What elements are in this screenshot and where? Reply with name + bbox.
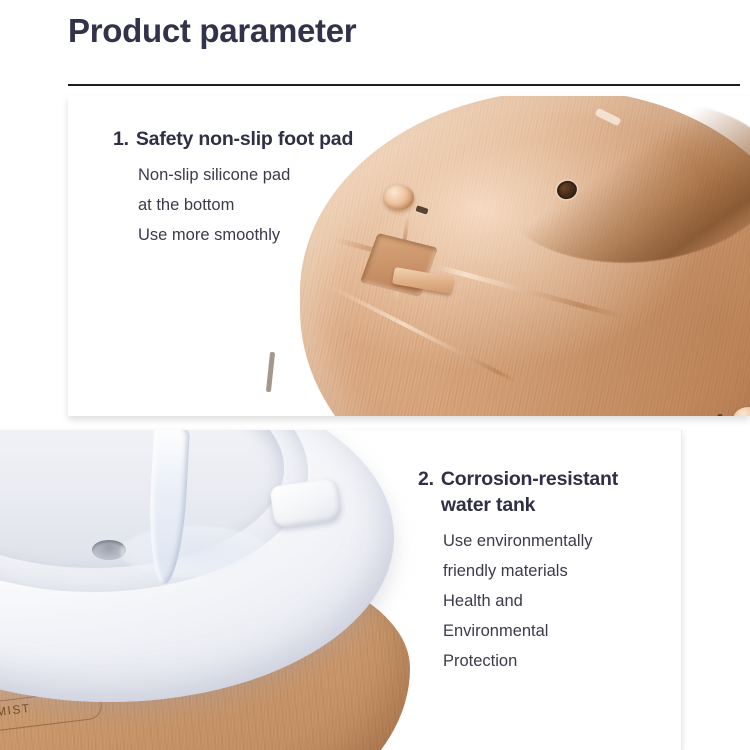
- section-2-text-block: 2. Corrosion-resistant water tank Use en…: [418, 466, 668, 676]
- vent-slit: [266, 352, 275, 392]
- section-2-product-photo: ON MIST: [0, 430, 420, 750]
- panel-right-edge: [681, 430, 682, 750]
- section-1-text-block: 1. Safety non-slip foot pad Non-slip sil…: [113, 126, 413, 250]
- product-parameter-page: Product parameter: [0, 0, 750, 750]
- water-surface: [120, 526, 270, 578]
- section-2-heading-text: Corrosion-resistant water tank: [441, 466, 668, 518]
- section-1-panel: 1. Safety non-slip foot pad Non-slip sil…: [68, 96, 750, 416]
- section-2-panel: ON MIST 2. Corrosion-resistant water tan…: [0, 430, 682, 750]
- section-1-body-line: Non-slip silicone pad: [138, 160, 413, 190]
- title-divider: [68, 84, 740, 86]
- section-1-number: 1.: [113, 126, 129, 152]
- section-2-body-line: Environmental: [443, 616, 668, 646]
- section-2-body-line: Health and: [443, 586, 668, 616]
- section-2-body-line: Use environmentally: [443, 526, 668, 556]
- section-1-body-line: Use more smoothly: [138, 220, 413, 250]
- section-1-heading: 1. Safety non-slip foot pad: [113, 126, 413, 152]
- section-1-heading-text: Safety non-slip foot pad: [136, 126, 413, 152]
- section-2-body-line: Protection: [443, 646, 668, 676]
- section-1-body-line: at the bottom: [138, 190, 413, 220]
- page-title: Product parameter: [68, 8, 356, 54]
- section-2-body: Use environmentally friendly materials H…: [418, 526, 668, 676]
- section-2-number: 2.: [418, 466, 434, 492]
- section-1-body: Non-slip silicone pad at the bottom Use …: [113, 160, 413, 250]
- section-2-body-line: friendly materials: [443, 556, 668, 586]
- section-2-heading: 2. Corrosion-resistant water tank: [418, 466, 668, 518]
